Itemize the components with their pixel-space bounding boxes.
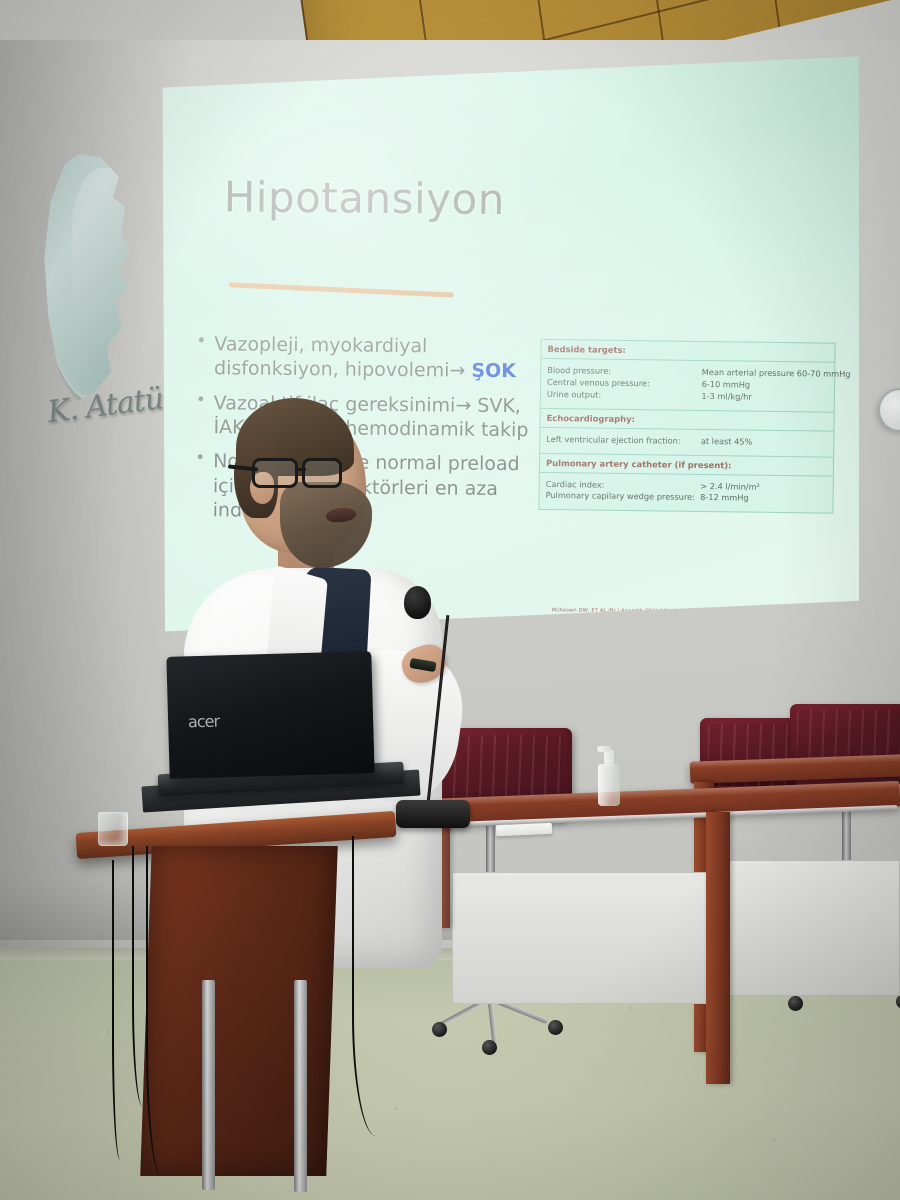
- beard: [280, 482, 372, 568]
- table-row: Urine output:: [547, 389, 702, 403]
- presentation-photo-scene: K. Atatürk Hipotansiyon Vazopleji, myoka…: [0, 0, 900, 1200]
- bedside-targets-table: Bedside targets: Blood pressure: Central…: [538, 339, 835, 514]
- slide-accent-rule: [229, 282, 454, 297]
- glasses-icon: [302, 458, 342, 488]
- slide-citation: McKeown DW, ET AL./Br J Anaesth 2012;108…: [552, 607, 723, 615]
- table-value-column: Mean arterial pressure 60-70 mmHg 6-10 m…: [701, 367, 828, 404]
- table-group-bedside: Bedside targets: Blood pressure: Central…: [540, 339, 836, 412]
- table-row: 1-3 ml/kg/hr: [701, 391, 828, 405]
- table-label-column: Blood pressure: Central venous pressure:…: [547, 365, 702, 403]
- ataturk-silhouette-icon: [38, 152, 142, 402]
- microphone-icon: [404, 586, 431, 619]
- lectern-post: [294, 980, 307, 1192]
- glasses-icon: [252, 458, 298, 488]
- table-group-body: Cardiac index: Pulmonary capilary wedge …: [539, 472, 832, 513]
- cable: [112, 860, 132, 1160]
- glasses-bridge: [296, 468, 306, 471]
- hand-sanitizer-bottle: [598, 744, 620, 806]
- cable: [146, 846, 184, 1176]
- floor-cable: [352, 836, 412, 1136]
- table-row: Pulmonary capilary wedge pressure:: [546, 490, 701, 504]
- table-group-body: Blood pressure: Central venous pressure:…: [541, 359, 835, 412]
- slide-title: Hipotansiyon: [223, 172, 505, 224]
- table-value-column: at least 45%: [701, 436, 828, 450]
- plaque-face-highlight: [72, 168, 134, 374]
- table-label-column: Cardiac index: Pulmonary capilary wedge …: [546, 478, 701, 504]
- table-group-pac: Pulmonary artery catheter (if present): …: [538, 452, 834, 514]
- table-group-echo: Echocardiography: Left ventricular eject…: [539, 408, 835, 457]
- bullet-1-text: Vazopleji, myokardiyal disfonksiyon, hip…: [214, 333, 472, 382]
- lectern-post: [202, 980, 215, 1190]
- table-group-body: Left ventricular ejection fraction: at l…: [540, 428, 833, 457]
- bullet-1-highlight: ŞOK: [471, 360, 516, 382]
- water-glass: [98, 812, 128, 846]
- table-row: 8-12 mmHg: [700, 492, 827, 506]
- ataturk-signature-text: K. Atatürk: [46, 381, 171, 475]
- slide-bullet-1: Vazopleji, myokardiyal disfonksiyon, hip…: [192, 332, 532, 384]
- table-row: Left ventricular ejection fraction:: [546, 434, 701, 448]
- table-value-column: > 2.4 l/min/m² 8-12 mmHg: [700, 481, 827, 506]
- table-label-column: Left ventricular ejection fraction:: [546, 434, 701, 448]
- laptop-brand-logo: acer: [188, 712, 220, 732]
- ataturk-relief-plaque: K. Atatürk: [26, 152, 154, 482]
- table-row: at least 45%: [701, 436, 828, 450]
